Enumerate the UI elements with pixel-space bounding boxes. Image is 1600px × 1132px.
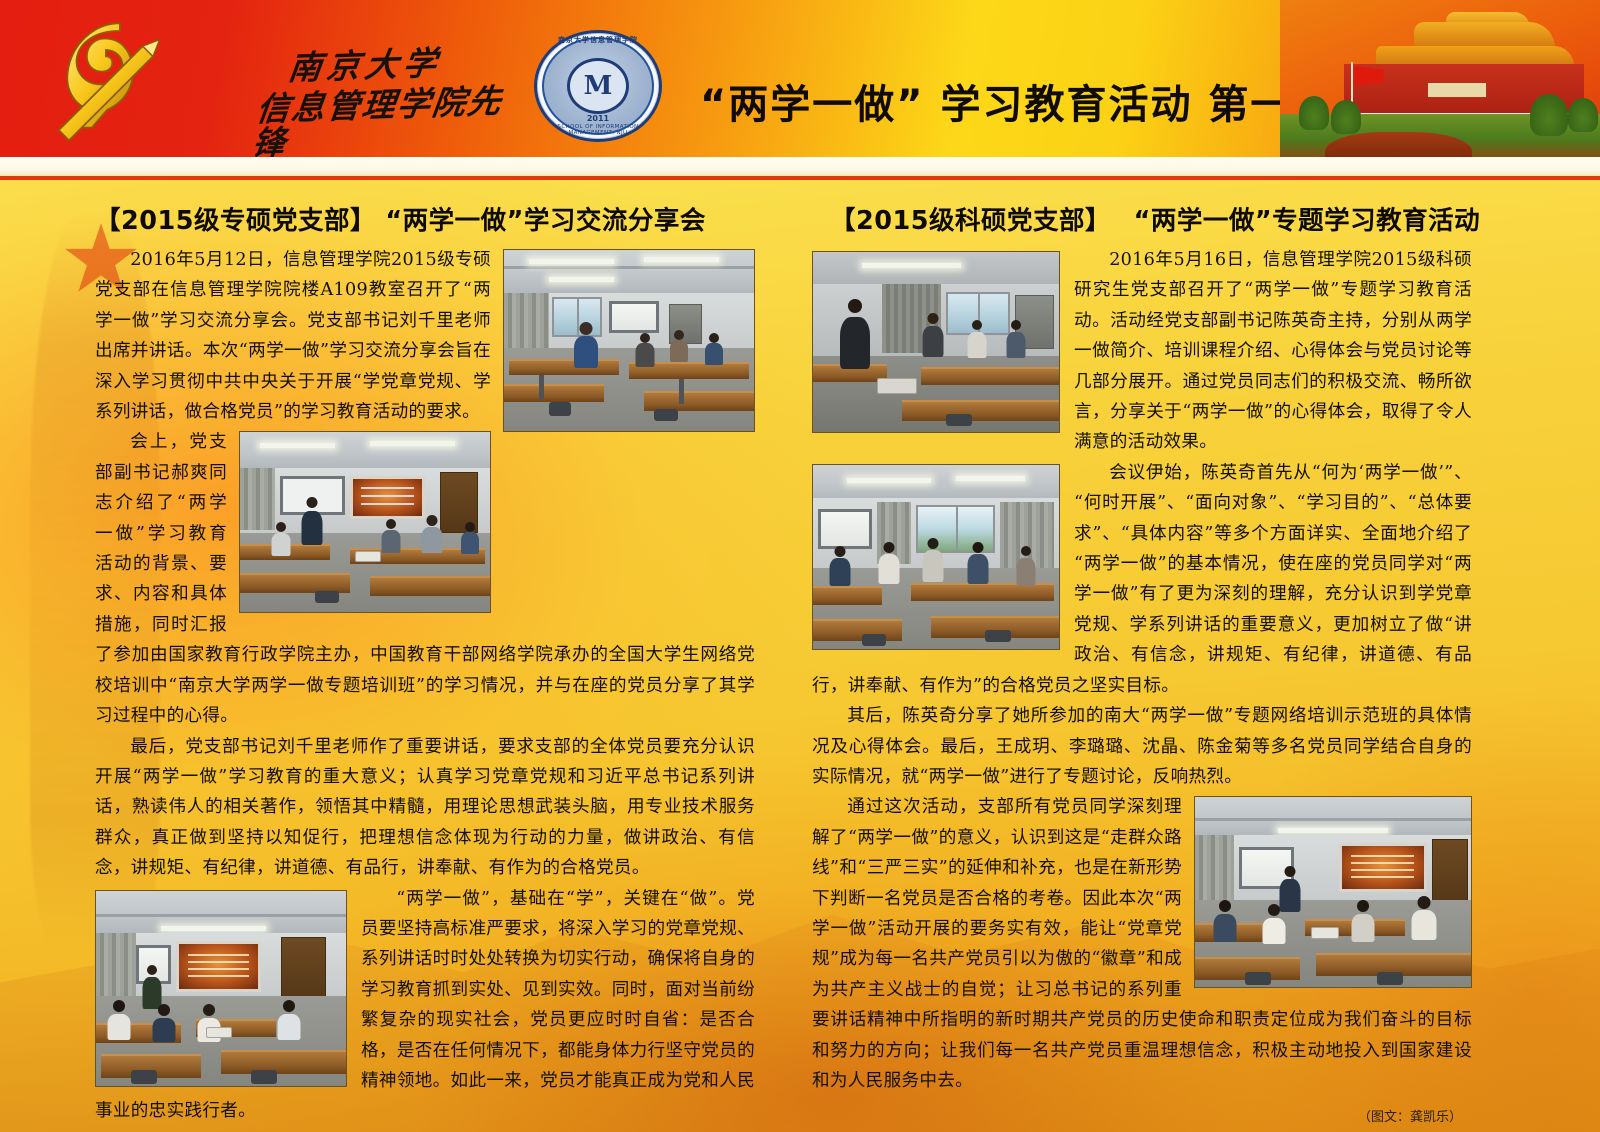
hammer-and-sickle-emblem xyxy=(32,8,162,148)
photo-classroom-seminar-2 xyxy=(239,431,491,613)
photo-classroom-presentation-2 xyxy=(1194,796,1472,988)
logo-center-mark: M xyxy=(567,58,628,114)
left-article: 【2015级专硕党支部】 “两学一做”学习交流分享会 xyxy=(95,200,755,1132)
poster-root: 南京大学 信息管理学院先锋 南京大学信息管理学院 M 2011 SCHOOL O… xyxy=(0,0,1600,1132)
logo-year: 2011 xyxy=(534,114,662,123)
right-article-credit: （图文：龚凯乐） xyxy=(812,1096,1472,1125)
calligraphy-line-2: 信息管理学院先锋 xyxy=(250,84,530,162)
left-paragraph-3: 最后，党支部书记刘千里老师作了重要讲话，要求支部的全体党员要充分认识开展“两学一… xyxy=(95,732,755,884)
right-article-heading: 【2015级科硕党支部】 “两学一做”专题学习教育活动 xyxy=(812,200,1472,237)
photo-classroom-seminar-1 xyxy=(503,249,755,432)
logo-bottom-text: SCHOOL OF INFORMATION MANAGEMENT, NJU xyxy=(534,124,662,136)
logo-top-text: 南京大学信息管理学院 xyxy=(534,35,662,45)
photo-classroom-presentation-1 xyxy=(95,890,347,1087)
left-article-heading: 【2015级专硕党支部】 “两学一做”学习交流分享会 xyxy=(95,200,755,237)
university-calligraphy: 南京大学 信息管理学院先锋 xyxy=(255,48,525,148)
page-title: “两学一做” 学习教育活动 第一期 xyxy=(700,72,1334,130)
school-of-information-management-logo: 南京大学信息管理学院 M 2011 SCHOOL OF INFORMATION … xyxy=(534,30,662,142)
photo-classroom-discussion-1 xyxy=(812,251,1060,433)
right-article-body: 2016年5月16日，信息管理学院2015级科硕研究生党支部召开了“两学一做”专… xyxy=(812,245,1472,1096)
photo-classroom-discussion-2 xyxy=(812,464,1060,650)
right-paragraph-3: 其后，陈英奇分享了她所参加的南大“两学一做”专题网络培训示范班的具体情况及心得体… xyxy=(812,701,1472,792)
left-article-credit: （图/文：郝爽） xyxy=(95,1127,755,1132)
header-banner: 南京大学 信息管理学院先锋 南京大学信息管理学院 M 2011 SCHOOL O… xyxy=(0,0,1600,167)
poster-body: 【2015级专硕党支部】 “两学一做”学习交流分享会 xyxy=(0,180,1600,1132)
logo-center-letter: M xyxy=(584,71,613,101)
tiananmen-photo xyxy=(1280,0,1600,160)
calligraphy-line-1: 南京大学 xyxy=(252,43,528,87)
left-article-body: 2016年5月12日，信息管理学院2015级专硕党支部在信息管理学院院楼A109… xyxy=(95,245,755,1127)
right-article: 【2015级科硕党支部】 “两学一做”专题学习教育活动 xyxy=(812,200,1472,1125)
